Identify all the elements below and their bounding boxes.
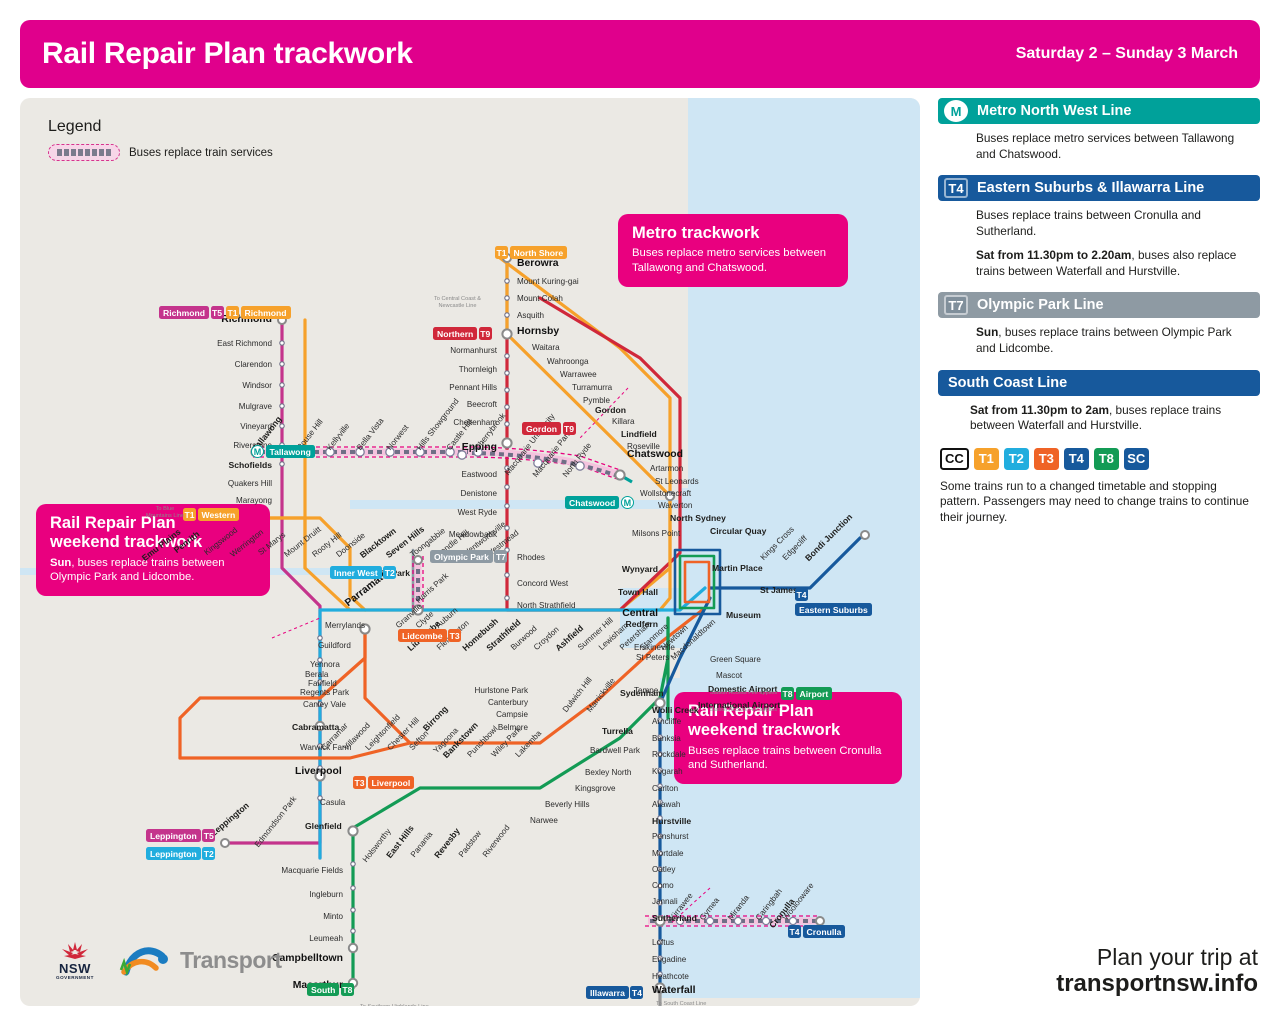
line-chip-row: CCT1T2T3T4T8SC	[938, 448, 1260, 470]
waratah-icon	[58, 940, 92, 962]
sidebar-section-body-1: Buses replace trains between Cronulla an…	[938, 208, 1260, 279]
line-chip-t2[interactable]: T2	[1004, 448, 1029, 470]
line-mark-t3-lidcombe: T3	[448, 629, 461, 642]
sidebar-paragraph-1-1: Sat from 11.30pm to 2.20am, buses also r…	[976, 248, 1254, 279]
map-note-2: To Southern Highlands Line	[360, 1004, 429, 1006]
station-label: Canterbury	[488, 698, 528, 707]
station-label: Martin Place	[712, 563, 763, 573]
station-label: Hurlstone Park	[474, 686, 528, 695]
station-label: St Peters	[636, 653, 669, 662]
nsw-logo-text: NSW	[59, 962, 91, 975]
metro-m-icon-m-chatswood: M	[621, 496, 634, 509]
line-mark-t3-liverpool: T3	[353, 776, 366, 789]
sidebar-paragraph-0-0: Buses replace metro services between Tal…	[976, 131, 1254, 162]
page-root: Rail Repair Plan trackwork Saturday 2 – …	[0, 0, 1280, 1024]
station-label: Arncliffe	[652, 717, 681, 726]
station-label: Rhodes	[517, 553, 545, 562]
legend-bus-label: Buses replace train services	[129, 147, 273, 159]
station-label: Glenfield	[305, 821, 342, 831]
line-mark-t1-north-shore: T1	[495, 246, 508, 259]
station-label: Erskineville	[634, 643, 675, 652]
station-label: West Ryde	[458, 508, 497, 517]
station-label: Windsor	[242, 381, 272, 390]
station-label: Como	[652, 881, 674, 890]
line-mark-t5-leppington: T5	[202, 829, 215, 842]
route-badge-label-t1-western: Western	[198, 508, 240, 521]
station-label: Clarendon	[235, 360, 272, 369]
line-mark-t8-south: T8	[341, 983, 354, 996]
plan-your-trip: Plan your trip at transportnsw.info	[1056, 944, 1258, 999]
route-badge-label-t4-illawarra: Illawarra	[586, 986, 629, 999]
map-note-3: To South Coast Line	[656, 1001, 706, 1006]
page-header: Rail Repair Plan trackwork Saturday 2 – …	[20, 20, 1260, 88]
line-mark-t4: T4	[944, 178, 968, 198]
station-label: Campbelltown	[272, 953, 343, 964]
station-label: Concord West	[517, 579, 568, 588]
route-badge-m-chatswood[interactable]: ChatswoodM	[565, 496, 634, 509]
sidebar-section-title-1: Eastern Suburbs & Illawarra Line	[977, 180, 1212, 196]
route-badge-label-t5-richmond: Richmond	[159, 306, 209, 319]
station-label: Ingleburn	[309, 890, 343, 899]
station-label: Wolli Creek	[652, 705, 699, 715]
legend-row-bus: Buses replace train services	[48, 144, 273, 161]
line-chip-t3[interactable]: T3	[1034, 448, 1059, 470]
station-label: Asquith	[517, 311, 544, 320]
route-badge-label-m-chatswood: Chatswood	[565, 496, 619, 509]
station-label: Waitara	[532, 343, 560, 352]
station-label: Leumeah	[309, 934, 343, 943]
station-label: North Strathfield	[517, 601, 575, 610]
legend-title: Legend	[48, 118, 101, 136]
station-label: Kogarah	[652, 767, 683, 776]
station-label: Artarmon	[650, 464, 683, 473]
station-label: Cabramatta	[292, 722, 339, 732]
station-label: St Leonards	[655, 477, 699, 486]
station-label: Turrella	[602, 726, 633, 736]
station-label: Berowra	[517, 258, 559, 269]
route-badge-label-t1-north-shore: North Shore	[510, 246, 568, 259]
station-label: Schofields	[229, 460, 272, 470]
station-label: Waverton	[658, 501, 692, 510]
station-label: Chatswood	[627, 449, 683, 460]
station-label: Quakers Hill	[228, 479, 272, 488]
station-label: Thornleigh	[459, 365, 497, 374]
line-chip-cc[interactable]: CC	[940, 448, 969, 470]
station-label: Kingsgrove	[575, 784, 616, 793]
route-badge-t5-richmond[interactable]: RichmondT5	[159, 306, 224, 319]
metro-m-icon-m-tallawong: M	[251, 445, 264, 458]
callout-metro-title: Metro trackwork	[632, 224, 834, 242]
station-label: Bardwell Park	[590, 746, 640, 755]
station-label: Penshurst	[652, 832, 688, 841]
station-label: Mascot	[716, 671, 742, 680]
station-label: Milsons Point	[632, 529, 680, 538]
station-label: Beverly Hills	[545, 800, 590, 809]
station-label: Turramurra	[572, 383, 612, 392]
sidebar-section-title-2: Olympic Park Line	[977, 297, 1112, 313]
line-chip-sc[interactable]: SC	[1124, 448, 1149, 470]
map-note-0: To Central Coast &Newcastle Line	[434, 296, 481, 310]
sidebar-paragraph-bold-3-0: Sat from 11.30pm to 2am	[970, 403, 1109, 417]
route-badge-label-t2-leppington: Leppington	[146, 847, 201, 860]
station-label: Narwee	[530, 816, 558, 825]
sidebar-section-body-3: Sat from 11.30pm to 2am, buses replace t…	[938, 403, 1260, 434]
station-label: Normanhurst	[450, 346, 497, 355]
station-label: Guildford	[318, 641, 351, 650]
sidebar-section-header-1[interactable]: T4Eastern Suburbs & Illawarra Line	[938, 175, 1260, 201]
route-badge-label-t5-leppington: Leppington	[146, 829, 201, 842]
station-label: Heathcote	[652, 972, 689, 981]
station-label: Minto	[323, 912, 343, 921]
sidebar-section-header-2[interactable]: T7Olympic Park Line	[938, 292, 1260, 318]
station-label: Mulgrave	[239, 402, 272, 411]
station-label: St James	[760, 585, 798, 595]
line-mark-t2-leppington: T2	[202, 847, 215, 860]
station-label: Engadine	[652, 955, 686, 964]
sidebar-paragraph-bold-2-0: Sun	[976, 325, 998, 339]
route-badge-label-t1-richmond: Richmond	[241, 306, 291, 319]
route-badge-t4-cronulla[interactable]: T4Cronulla	[788, 925, 845, 938]
station-label: Wollstonecraft	[640, 489, 691, 498]
line-mark-t9-gordon: T9	[563, 422, 576, 435]
line-mark-t4-illawarra: T4	[630, 986, 643, 999]
route-badge-t8-south[interactable]: SouthT8	[307, 983, 354, 996]
nsw-logo-subtext: GOVERNMENT	[56, 975, 94, 980]
transport-nsw-logo: Transport	[116, 942, 282, 978]
station-label: Carlton	[652, 784, 678, 793]
station-label: Cheltenham	[453, 418, 497, 427]
metro-m-icon: M	[944, 100, 968, 122]
station-label: Fairfield	[308, 679, 337, 688]
station-label: Central	[622, 608, 658, 619]
station-label: Beecroft	[467, 400, 497, 409]
station-label: Hornsby	[517, 326, 559, 337]
line-mark-t8-airport: T8	[781, 687, 794, 700]
station-label: Green Square	[710, 655, 761, 664]
station-label: Warrawee	[560, 370, 597, 379]
bus-replacement-swatch	[48, 144, 120, 161]
callout-metro-trackwork: Metro trackwork Buses replace metro serv…	[618, 214, 848, 287]
line-mark-t1-richmond: T1	[226, 306, 239, 319]
route-badge-t1-north-shore[interactable]: T1North Shore	[495, 246, 567, 259]
route-badge-label-t9-gordon: Gordon	[522, 422, 561, 435]
route-badge-label-m-tallawong: Tallawong	[266, 445, 315, 458]
station-label: Waterfall	[652, 985, 696, 996]
sidebar-section-header-0[interactable]: MMetro North West Line	[938, 98, 1260, 124]
trackwork-sidebar: MMetro North West LineBuses replace metr…	[938, 98, 1260, 525]
transport-word: Transport	[180, 947, 282, 974]
nsw-government-logo: NSW GOVERNMENT	[56, 940, 94, 980]
line-mark-t4-cronulla: T4	[788, 925, 801, 938]
line-mark-t1-western: T1	[183, 508, 196, 521]
map-note-5: Station Access Fee applies	[710, 707, 777, 714]
station-label: Merrylands	[325, 621, 365, 630]
station-label: Circular Quay	[710, 526, 766, 536]
line-chip-t4[interactable]: T4	[1064, 448, 1089, 470]
route-badge-t3-lidcombe[interactable]: LidcombeT3	[398, 629, 461, 642]
page-title: Rail Repair Plan trackwork	[42, 37, 413, 71]
sidebar-section-body-0: Buses replace metro services between Tal…	[938, 131, 1260, 162]
station-label: Allawah	[652, 800, 680, 809]
callout-cronulla-title-line2: weekend trackwork	[688, 721, 888, 739]
station-label: Macquarie Fields	[281, 866, 343, 875]
station-label: Bexley North	[585, 768, 631, 777]
line-mark-t9-northern: T9	[479, 327, 492, 340]
station-label: Liverpool	[295, 766, 342, 777]
station-label: Lindfield	[621, 429, 657, 439]
station-label: Redfern	[626, 619, 658, 629]
station-label: North Sydney	[670, 513, 726, 523]
station-label: Hurstville	[652, 816, 691, 826]
station-label: Museum	[726, 610, 761, 620]
callout-olympic-body-bold: Sun	[50, 557, 71, 569]
station-label: Yennora	[310, 660, 340, 669]
sidebar-paragraph-1-0: Buses replace trains between Cronulla an…	[976, 208, 1254, 239]
callout-olympic-body: Sun, buses replace trains between Olympi…	[50, 556, 256, 584]
sidebar-section-body-2: Sun, buses replace trains between Olympi…	[938, 325, 1260, 356]
header-date-range: Saturday 2 – Sunday 3 March	[1016, 45, 1238, 63]
station-label: Campsie	[496, 710, 528, 719]
station-label: Mount Kuring-gai	[517, 277, 579, 286]
route-badge-t7-olympic-park[interactable]: Olympic ParkT7	[430, 550, 507, 563]
station-label: Oatley	[652, 865, 675, 874]
route-badge-label-t4-eastern-suburbs: Eastern Suburbs	[795, 603, 872, 616]
line-mark-t5-richmond: T5	[211, 306, 224, 319]
station-label: Tempe	[634, 686, 658, 695]
line-mark-t7-olympic-park: T7	[494, 550, 507, 563]
route-badge-t3-liverpool[interactable]: T3Liverpool	[353, 776, 414, 789]
sidebar-section-title-0: Metro North West Line	[977, 103, 1139, 119]
sidebar-section-title-3: South Coast Line	[948, 375, 1075, 391]
station-label: Banksia	[652, 734, 681, 743]
route-badge-t4-eastern-suburbs[interactable]: T4Eastern Suburbs	[795, 588, 872, 616]
line-mark-t2-inner-west: T2	[383, 566, 396, 579]
route-badge-label-t3-lidcombe: Lidcombe	[398, 629, 447, 642]
station-label: Regents Park	[300, 688, 349, 697]
station-label: Killara	[612, 417, 635, 426]
station-label: Berala	[305, 670, 328, 679]
station-label: Eastwood	[461, 470, 497, 479]
map-note-4: Station Access Fee applies	[710, 690, 777, 697]
map-note-1: To BlueMountains Line	[146, 506, 184, 520]
route-badge-label-t3-liverpool: Liverpool	[368, 776, 415, 789]
route-badge-t2-leppington[interactable]: LeppingtonT2	[146, 847, 215, 860]
station-label: East Richmond	[217, 339, 272, 348]
sidebar-paragraph-2-0: Sun, buses replace trains between Olympi…	[976, 325, 1254, 356]
route-badge-label-t8-airport: Airport	[796, 687, 833, 700]
line-chip-t1[interactable]: T1	[974, 448, 999, 470]
station-label: Marayong	[236, 496, 272, 505]
line-chip-t8[interactable]: T8	[1094, 448, 1119, 470]
plan-line-1: Plan your trip at	[1056, 944, 1258, 971]
sidebar-paragraph-3-0: Sat from 11.30pm to 2am, buses replace t…	[970, 403, 1254, 434]
station-label: Pennant Hills	[449, 383, 497, 392]
route-badge-t5-leppington[interactable]: LeppingtonT5	[146, 829, 215, 842]
station-label: Gordon	[595, 405, 626, 415]
station-label: Loftus	[652, 938, 674, 947]
station-label: Town Hall	[618, 587, 658, 597]
station-label: Casula	[320, 798, 345, 807]
route-badge-t4-illawarra[interactable]: IllawarraT4	[586, 986, 643, 999]
chips-note: Some trains run to a changed timetable a…	[938, 479, 1260, 526]
line-mark-t4-eastern-suburbs: T4	[795, 588, 808, 601]
station-label: Jannali	[652, 897, 678, 906]
transport-swoosh-icon	[116, 942, 176, 978]
route-badge-t9-gordon[interactable]: GordonT9	[522, 422, 576, 435]
station-label: Rockdale	[652, 750, 686, 759]
route-badge-label-t2-inner-west: Inner West	[330, 566, 382, 579]
route-badge-label-t9-northern: Northern	[433, 327, 477, 340]
route-badge-label-t7-olympic-park: Olympic Park	[430, 550, 493, 563]
station-label: Epping	[462, 442, 497, 453]
route-badge-label-t4-cronulla: Cronulla	[803, 925, 846, 938]
route-badge-t8-airport[interactable]: T8Airport	[781, 687, 832, 700]
route-badge-t1-richmond[interactable]: T1Richmond	[226, 306, 291, 319]
station-label: Pymble	[583, 396, 610, 405]
station-label: Mortdale	[652, 849, 684, 858]
map-panel[interactable]: Legend Buses replace train services Metr…	[20, 98, 920, 1006]
footer-logos: NSW GOVERNMENT Transport	[56, 940, 282, 980]
callout-olympic-body-text: , buses replace trains between Olympic P…	[50, 557, 225, 583]
route-badge-label-t8-south: South	[307, 983, 339, 996]
sidebar-paragraph-bold-1-1: Sat from 11.30pm to 2.20am	[976, 248, 1131, 262]
plan-line-2: transportnsw.info	[1056, 970, 1258, 998]
callout-cronulla-body: Buses replace trains between Cronulla an…	[688, 744, 888, 772]
station-label: Canley Vale	[303, 700, 346, 709]
route-badge-t9-northern[interactable]: NorthernT9	[433, 327, 492, 340]
route-badge-t1-western[interactable]: T1Western	[183, 508, 239, 521]
station-label: Denistone	[461, 489, 497, 498]
callout-metro-body: Buses replace metro services between Tal…	[632, 246, 834, 274]
line-mark-t7: T7	[944, 295, 968, 315]
route-badge-t2-inner-west[interactable]: Inner WestT2	[330, 566, 396, 579]
station-label: Belmore	[498, 723, 528, 732]
station-label: Mount Colah	[517, 294, 563, 303]
station-label: Wahroonga	[547, 357, 589, 366]
route-badge-m-tallawong[interactable]: MTallawong	[251, 445, 315, 458]
station-label: Wynyard	[622, 564, 658, 574]
sidebar-section-header-3[interactable]: South Coast Line	[938, 370, 1260, 396]
